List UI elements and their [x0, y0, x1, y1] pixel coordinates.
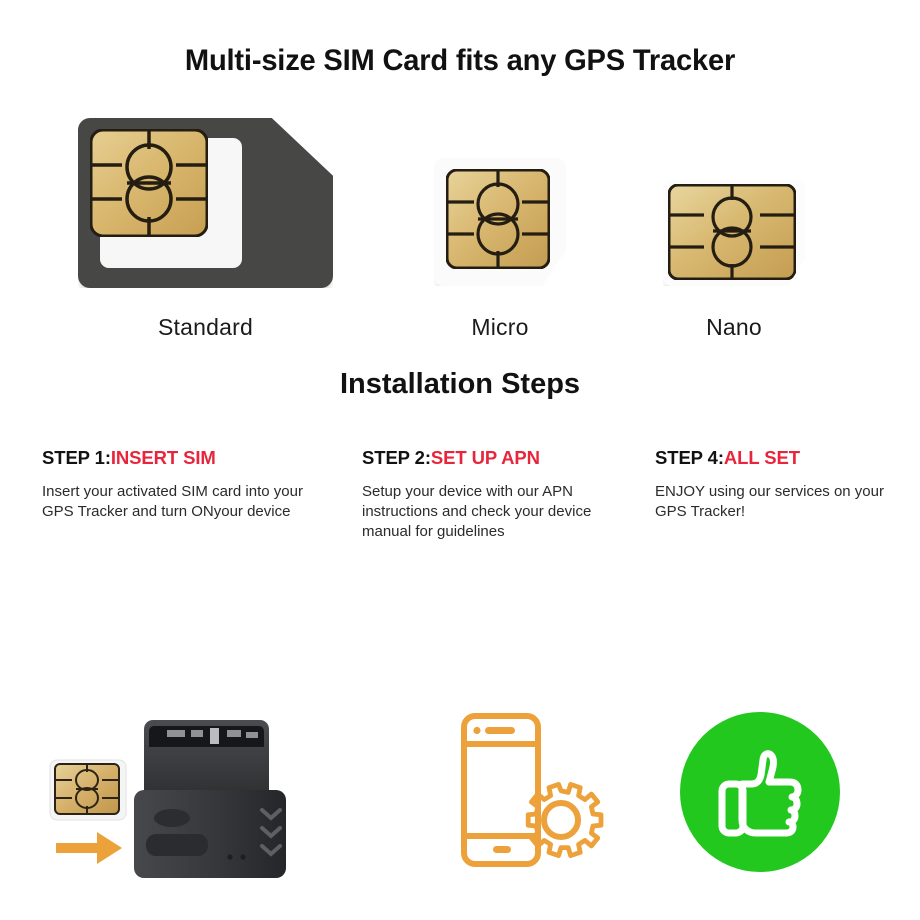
step-description: ENJOY using our services on your GPS Tra… — [655, 482, 885, 522]
step-heading: STEP 1:INSERT SIM — [42, 447, 342, 469]
sim-arrow-obd-tracker-illustration — [34, 706, 324, 896]
step-item-2: STEP 2:SET UP APN Setup your device with… — [362, 447, 662, 542]
sim-card-standard: Standard — [78, 118, 333, 341]
sim-card-comparison: Standard — [0, 100, 920, 360]
step-action-label: INSERT SIM — [111, 447, 216, 468]
step-number-label: STEP 2: — [362, 447, 431, 468]
step-item-1: STEP 1:INSERT SIM Insert your activated … — [42, 447, 342, 522]
orange-arrow-icon — [56, 832, 122, 864]
installation-steps-heading: Installation Steps — [0, 368, 920, 401]
micro-sim-graphic — [434, 158, 566, 286]
step-action-label: ALL SET — [724, 447, 800, 468]
sim-chip-icon — [668, 184, 796, 280]
sim-chip-icon — [446, 169, 550, 269]
step-description: Setup your device with our APN instructi… — [362, 482, 594, 542]
sim-card-label: Standard — [78, 314, 333, 341]
page-title: Multi-size SIM Card fits any GPS Tracker — [14, 0, 906, 78]
step-description: Insert your activated SIM card into your… — [42, 482, 307, 522]
step-number-label: STEP 4: — [655, 447, 724, 468]
thumbs-up-illustration — [680, 712, 840, 872]
sim-card-label: Nano — [663, 314, 805, 341]
standard-sim-graphic — [78, 118, 333, 288]
step-action-label: SET UP APN — [431, 447, 540, 468]
phone-gear-illustration — [455, 708, 625, 883]
thumbs-up-icon — [680, 712, 840, 872]
sim-card-micro: Micro — [434, 158, 566, 341]
nano-sim-graphic — [663, 180, 805, 286]
step-number-label: STEP 1: — [42, 447, 111, 468]
step-item-3: STEP 4:ALL SET ENJOY using our services … — [655, 447, 920, 522]
phone-gear-icon — [455, 708, 625, 883]
small-sim-card-icon — [50, 760, 126, 820]
installation-steps-list: STEP 1:INSERT SIM Insert your activated … — [0, 447, 920, 567]
sim-card-label: Micro — [434, 314, 566, 341]
step-heading: STEP 2:SET UP APN — [362, 447, 662, 469]
step-heading: STEP 4:ALL SET — [655, 447, 920, 469]
obd-gps-tracker-icon — [134, 720, 286, 878]
sim-card-nano: Nano — [663, 180, 805, 341]
sim-chip-icon — [90, 129, 208, 237]
